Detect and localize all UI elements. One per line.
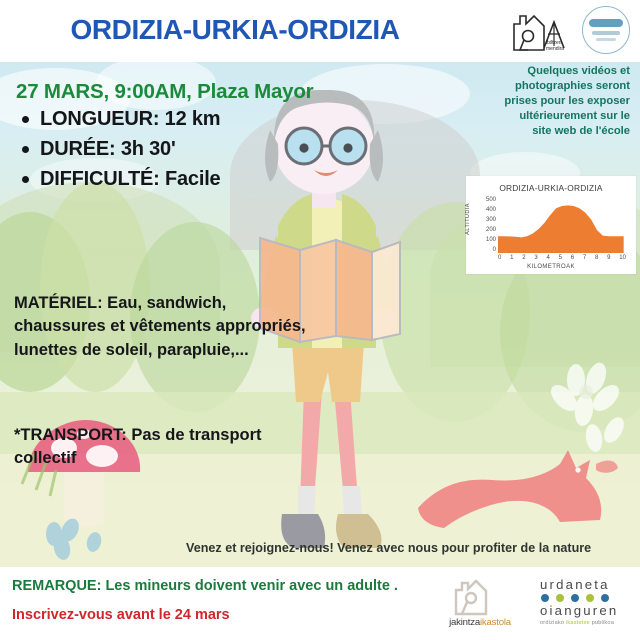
logo-dot	[541, 594, 549, 602]
chart-xtick: 7	[583, 255, 586, 261]
chart-xtick: 1	[510, 255, 513, 261]
circle-scribble-logo-icon	[582, 6, 630, 54]
jakintza-ikastola-wordmark: jakintzaikastola	[432, 617, 528, 628]
chart-title: ORDIZIA-URKIA-ORDIZIA	[466, 183, 636, 193]
logo-dot	[586, 594, 594, 602]
urdaneta-line1: urdaneta	[540, 578, 610, 591]
chart-xtick: 8	[595, 255, 598, 261]
chart-y-axis-label: ALTITUDIA	[465, 203, 471, 235]
urdaneta-oianguren-logo: urdaneta oianguren ordiziako ikastetxe p…	[540, 572, 632, 630]
svg-text:mendira: mendira	[546, 46, 564, 52]
chart-ytick: 400	[486, 207, 496, 213]
elevation-profile-chart: ORDIZIA-URKIA-ORDIZIA ALTITUDIA 500 400 …	[466, 176, 636, 274]
urdaneta-line2: oianguren	[540, 604, 618, 617]
chart-xtick: 10	[619, 255, 626, 261]
chart-ytick: 200	[486, 227, 496, 233]
transport-text: *TRANSPORT: Pas de transport collectif	[14, 424, 314, 471]
list-item: DIFFICULTÉ: Facile	[16, 168, 220, 191]
poster-root: ORDIZIA-URKIA-ORDIZIA ibiltzen mendira	[0, 0, 640, 640]
ikastola-word: ikastola	[480, 617, 511, 628]
urdaneta-sub2: ikastetxe	[566, 620, 592, 626]
urdaneta-sub3: publikoa	[592, 620, 614, 626]
chart-ytick: 100	[486, 237, 496, 243]
material-text: MATÉRIEL: Eau, sandwich, chaussures et v…	[14, 292, 314, 362]
ibiltzen-mendira-logo-icon: ibiltzen mendira	[510, 6, 572, 54]
chart-xtick: 6	[571, 255, 574, 261]
urdaneta-sub1: ordiziako	[540, 620, 566, 626]
chart-plot-area	[498, 197, 626, 253]
house-icon	[450, 572, 510, 616]
media-notice-text: Quelques vidéos et photographies seront …	[498, 64, 630, 138]
jakintza-word: jakintza	[449, 617, 480, 628]
chart-ytick: 500	[486, 197, 496, 203]
chart-ytick: 300	[486, 217, 496, 223]
chart-xtick: 2	[522, 255, 525, 261]
chart-xtick: 3	[534, 255, 537, 261]
header-logo-row: ibiltzen mendira	[510, 6, 630, 54]
list-item: LONGUEUR: 12 km	[16, 108, 220, 131]
list-item: DURÉE: 3h 30'	[16, 138, 220, 161]
poster-header: ORDIZIA-URKIA-ORDIZIA ibiltzen mendira	[0, 0, 640, 62]
event-date-line: 27 MARS, 9:00AM, Plaza Mayor	[16, 80, 313, 104]
chart-x-tick-labels: 0 1 2 3 4 5 6 7 8 9 10	[498, 255, 626, 261]
urdaneta-dot-row	[541, 594, 609, 602]
jakintza-ikastola-logo: jakintzaikastola	[432, 572, 528, 630]
tagline-text: Venez et rejoignez-nous! Venez avec nous…	[186, 541, 632, 555]
footer-logo-row: jakintzaikastola urdaneta oianguren ordi…	[432, 572, 632, 630]
chart-x-axis-label: KILOMETROAK	[466, 264, 636, 270]
chart-ytick: 0	[493, 247, 496, 253]
chart-xtick: 4	[547, 255, 550, 261]
remark-text: REMARQUE: Les mineurs doivent venir avec…	[12, 578, 398, 594]
urdaneta-subtitle: ordiziako ikastetxe publikoa	[540, 620, 614, 626]
logo-dot	[571, 594, 579, 602]
page-title: ORDIZIA-URKIA-ORDIZIA	[0, 14, 470, 46]
poster-footer: REMARQUE: Les mineurs doivent venir avec…	[0, 567, 640, 640]
logo-dot	[601, 594, 609, 602]
chart-xtick: 5	[559, 255, 562, 261]
chart-y-tick-labels: 500 400 300 200 100 0	[474, 197, 496, 253]
chart-xtick: 9	[607, 255, 610, 261]
detail-bullet-list: LONGUEUR: 12 km DURÉE: 3h 30' DIFFICULTÉ…	[16, 108, 220, 198]
logo-dot	[556, 594, 564, 602]
chart-xtick: 0	[498, 255, 501, 261]
signup-deadline-text: Inscrivez-vous avant le 24 mars	[12, 607, 230, 623]
